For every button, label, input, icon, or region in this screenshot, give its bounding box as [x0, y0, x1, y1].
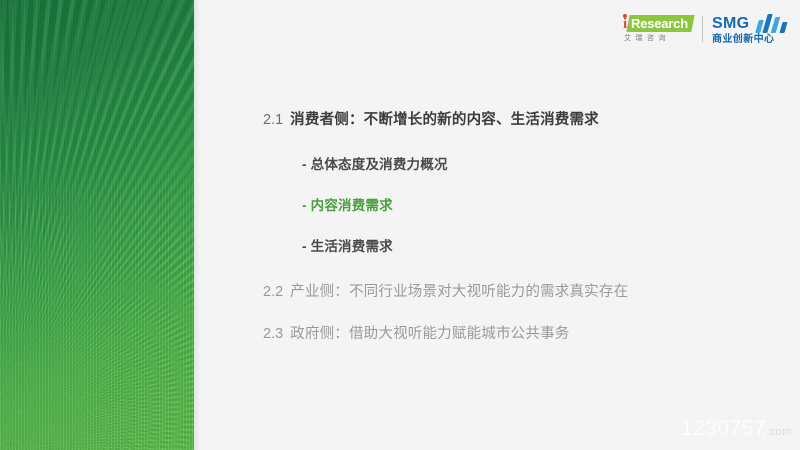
smg-wordmark: SMG: [712, 15, 749, 33]
iresearch-initial: i: [623, 17, 628, 32]
smg-logo: SMG 商业创新中心: [712, 12, 790, 46]
agenda-section-2-1-number: 2.1: [263, 112, 283, 128]
agenda-outline: 2.1 消费者侧：不断增长的新的内容、生活消费需求 - 总体态度及消费力概况 -…: [263, 108, 763, 343]
logo-divider: [702, 16, 703, 42]
agenda-section-2-2-title: 产业侧：不同行业场景对大视听能力的需求真实存在: [290, 280, 628, 301]
slide-canvas: i Research 艾瑞咨询 SMG 商业创新中心 2.1 消费者侧：不断增长…: [0, 0, 800, 450]
watermark-suffix: .com: [766, 426, 792, 438]
agenda-section-2-1[interactable]: 2.1 消费者侧：不断增长的新的内容、生活消费需求: [263, 108, 763, 129]
smg-bars-icon: [756, 14, 788, 33]
watermark: 1230757.com: [681, 417, 792, 444]
agenda-section-2-2[interactable]: 2.2 产业侧：不同行业场景对大视听能力的需求真实存在: [263, 280, 763, 301]
watermark-number: 1230757: [681, 417, 766, 440]
agenda-section-2-2-number: 2.2: [263, 284, 283, 300]
iresearch-logo: i Research 艾瑞咨询: [621, 12, 693, 46]
agenda-section-2-3[interactable]: 2.3 政府侧：借助大视听能力赋能城市公共事务: [263, 322, 763, 343]
agenda-section-2-3-title: 政府侧：借助大视听能力赋能城市公共事务: [290, 322, 569, 343]
decorative-green-panel: [0, 0, 194, 450]
agenda-subitem-content-consumption[interactable]: - 内容消费需求: [302, 194, 763, 214]
vertical-stripes-pattern: [0, 0, 194, 450]
agenda-subitem-overall-attitude[interactable]: - 总体态度及消费力概况: [302, 153, 763, 173]
iresearch-wordmark: Research: [631, 16, 688, 31]
agenda-section-2-3-number: 2.3: [263, 326, 283, 342]
agenda-subitem-life-consumption[interactable]: - 生活消费需求: [302, 235, 763, 255]
logo-bar: i Research 艾瑞咨询 SMG 商业创新中心: [621, 12, 790, 46]
smg-cn-name: 商业创新中心: [712, 33, 774, 46]
iresearch-cn-name: 艾瑞咨询: [624, 34, 670, 43]
agenda-section-2-1-title: 消费者侧：不断增长的新的内容、生活消费需求: [290, 108, 599, 129]
content-area: i Research 艾瑞咨询 SMG 商业创新中心 2.1 消费者侧：不断增长…: [200, 0, 800, 450]
